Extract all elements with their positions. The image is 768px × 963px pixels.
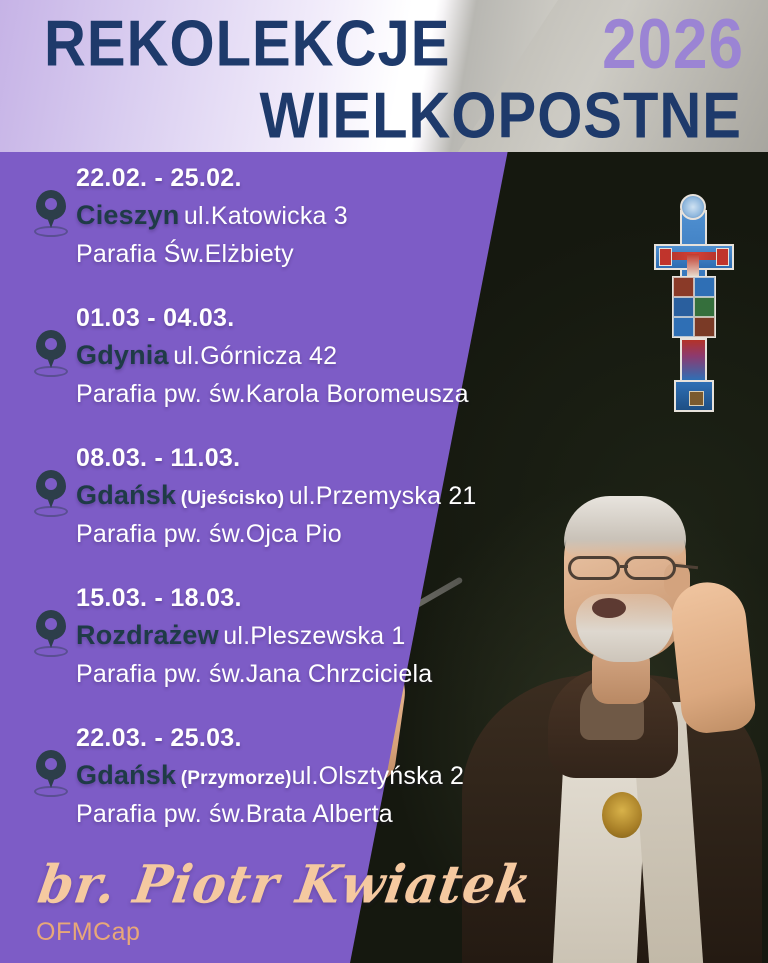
- list-item: 15.03. - 18.03. Rozdrażew ul.Pleszewska …: [0, 584, 768, 724]
- map-pin-icon: [36, 750, 66, 792]
- entry-location-line: Gdynia ul.Górnicza 42: [76, 340, 337, 371]
- list-item: 22.03. - 25.03. Gdańsk (Przymorze)ul.Ols…: [0, 724, 768, 864]
- retreat-schedule-list: 22.02. - 25.02. Cieszyn ul.Katowicka 3 P…: [0, 164, 768, 864]
- entry-parish: Parafia pw. św.Ojca Pio: [76, 520, 342, 549]
- entry-dates: 08.03. - 11.03.: [76, 444, 240, 473]
- speaker-order: OFMCap: [36, 918, 140, 947]
- entry-street: ul.Katowicka 3: [184, 202, 348, 230]
- entry-city: Gdańsk: [76, 760, 176, 790]
- entry-dates: 01.03 - 04.03.: [76, 304, 235, 333]
- entry-dates: 22.03. - 25.03.: [76, 724, 242, 753]
- entry-city: Rozdrażew: [76, 620, 219, 650]
- page-title: REKOLEKCJE: [44, 6, 450, 81]
- entry-street: ul.Olsztyńska 2: [292, 762, 465, 790]
- entry-street: ul.Przemyska 21: [289, 482, 477, 510]
- page-subtitle: WIELKOPOSTNE: [260, 78, 742, 152]
- entry-location-line: Gdańsk (Ujeścisko) ul.Przemyska 21: [76, 480, 477, 511]
- entry-parish: Parafia pw. św.Karola Boromeusza: [76, 380, 469, 409]
- speaker-name: br. Piotr Kwiatek: [34, 853, 537, 915]
- list-item: 08.03. - 11.03. Gdańsk (Ujeścisko) ul.Pr…: [0, 444, 768, 584]
- entry-location-line: Cieszyn ul.Katowicka 3: [76, 200, 348, 231]
- entry-street: ul.Pleszewska 1: [223, 622, 405, 650]
- entry-dates: 15.03. - 18.03.: [76, 584, 242, 613]
- poster-header: REKOLEKCJE 2026 WIELKOPOSTNE: [0, 0, 768, 152]
- entry-city: Cieszyn: [76, 200, 179, 230]
- entry-city: Gdańsk: [76, 480, 176, 510]
- entry-district: (Przymorze): [181, 768, 292, 789]
- entry-city: Gdynia: [76, 340, 169, 370]
- list-item: 22.02. - 25.02. Cieszyn ul.Katowicka 3 P…: [0, 164, 768, 304]
- entry-parish: Parafia pw. św.Brata Alberta: [76, 800, 393, 829]
- map-pin-icon: [36, 330, 66, 372]
- map-pin-icon: [36, 470, 66, 512]
- entry-location-line: Gdańsk (Przymorze)ul.Olsztyńska 2: [76, 760, 464, 791]
- entry-street: ul.Górnicza 42: [173, 342, 337, 370]
- entry-location-line: Rozdrażew ul.Pleszewska 1: [76, 620, 406, 651]
- entry-parish: Parafia Św.Elżbiety: [76, 240, 294, 269]
- entry-district: (Ujeścisko): [181, 488, 285, 509]
- year-label: 2026: [602, 4, 744, 85]
- entry-parish: Parafia pw. św.Jana Chrzciciela: [76, 660, 432, 689]
- map-pin-icon: [36, 610, 66, 652]
- retreat-poster: REKOLEKCJE 2026 WIELKOPOSTNE 22.02. - 25…: [0, 0, 768, 963]
- entry-dates: 22.02. - 25.02.: [76, 164, 242, 193]
- map-pin-icon: [36, 190, 66, 232]
- list-item: 01.03 - 04.03. Gdynia ul.Górnicza 42 Par…: [0, 304, 768, 444]
